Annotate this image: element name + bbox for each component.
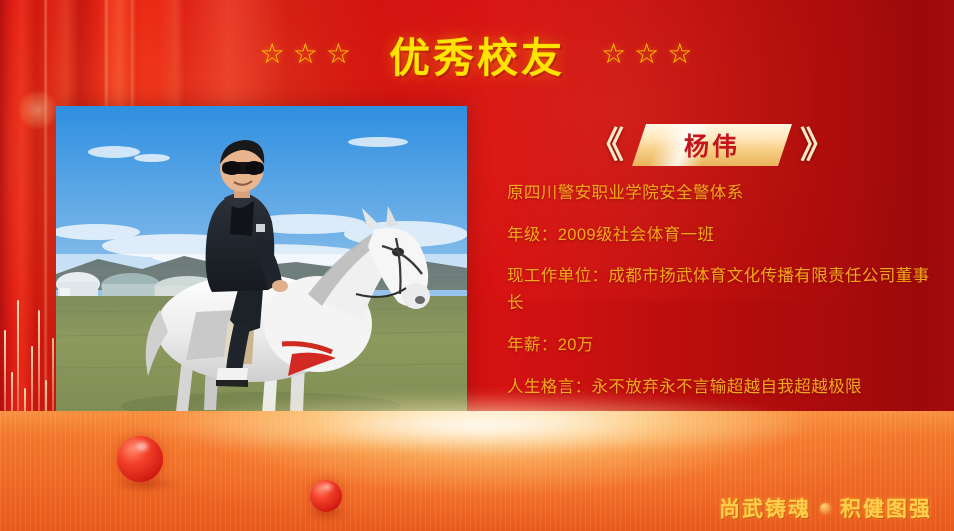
slide-root: ☆ ☆ ☆ 优秀校友 ☆ ☆ ☆ <box>0 0 954 531</box>
slogan-right-text: 积健图强 <box>840 493 932 523</box>
photo-illustration <box>56 106 467 421</box>
name-plate: 杨伟 <box>632 124 792 166</box>
star-icon: ☆ <box>634 40 661 68</box>
person-name: 杨伟 <box>684 127 740 163</box>
bracket-right-icon: 》 <box>800 127 836 163</box>
stars-right: ☆ ☆ ☆ <box>601 40 694 68</box>
info-line-salary: 年薪：20万 <box>507 332 930 359</box>
alumni-photo <box>56 106 467 421</box>
info-line-workplace: 现工作单位：成都市扬武体育文化传播有限责任公司董事长 <box>507 263 930 316</box>
page-title: 优秀校友 <box>389 24 565 84</box>
decorative-sphere-small <box>310 480 342 512</box>
star-icon: ☆ <box>601 40 628 68</box>
background-lens-flare-2 <box>18 90 58 130</box>
header: ☆ ☆ ☆ 优秀校友 ☆ ☆ ☆ <box>0 24 954 84</box>
star-icon: ☆ <box>260 40 287 68</box>
slogan-separator-icon <box>820 503 831 514</box>
star-icon: ☆ <box>293 40 320 68</box>
star-icon: ☆ <box>326 40 353 68</box>
stars-left: ☆ ☆ ☆ <box>260 40 353 68</box>
decorative-sphere-large <box>117 436 163 482</box>
footer-slogan: 尚武铸魂 积健图强 <box>719 493 932 523</box>
slogan-left-text: 尚武铸魂 <box>719 493 811 523</box>
name-banner: 《 杨伟 》 <box>588 122 836 168</box>
info-line-department: 原四川警安职业学院安全警体系 <box>507 180 930 207</box>
profile-info: 原四川警安职业学院安全警体系 年级：2009级社会体育一班 现工作单位：成都市扬… <box>507 180 930 400</box>
bracket-left-icon: 《 <box>588 127 624 163</box>
star-icon: ☆ <box>667 40 694 68</box>
info-line-grade: 年级：2009级社会体育一班 <box>507 222 930 249</box>
